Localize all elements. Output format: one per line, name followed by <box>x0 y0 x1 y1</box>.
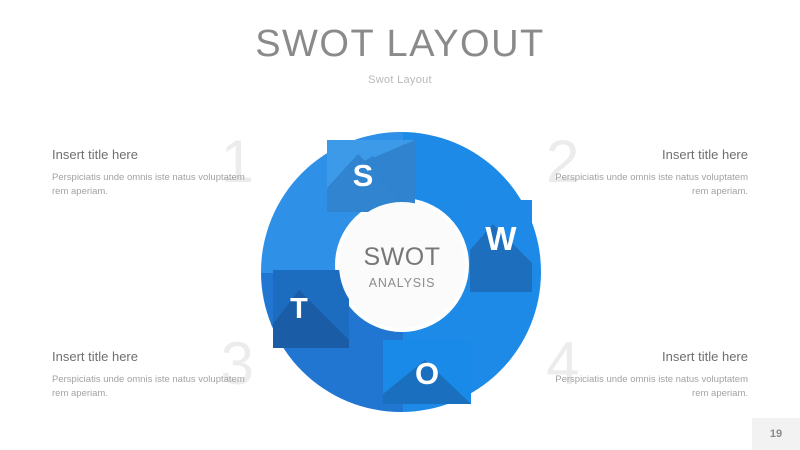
swot-center: SWOT ANALYSIS <box>339 202 465 328</box>
square-w-letter: W <box>485 220 517 257</box>
center-title: SWOT <box>364 243 441 271</box>
page-title: SWOT LAYOUT <box>0 22 800 66</box>
swot-item-2[interactable]: 2 Insert title here Perspiciatis unde om… <box>538 146 748 199</box>
swot-item-3[interactable]: 3 Insert title here Perspiciatis unde om… <box>52 348 262 401</box>
slide-header: SWOT LAYOUT Swot Layout <box>0 22 800 86</box>
item-1-title: Insert title here <box>52 146 262 164</box>
center-subtitle: ANALYSIS <box>369 276 436 290</box>
slide-canvas: SWOT LAYOUT Swot Layout 1 Insert title h… <box>0 0 800 450</box>
square-t-letter: T <box>290 293 308 325</box>
swot-square-weaknesses[interactable]: W <box>470 200 532 292</box>
page-number-box: 19 <box>752 418 800 450</box>
swot-square-opportunities[interactable]: O <box>383 340 471 404</box>
swot-item-4[interactable]: 4 Insert title here Perspiciatis unde om… <box>538 348 748 401</box>
item-1-description: Perspiciatis unde omnis iste natus volup… <box>52 171 262 199</box>
square-o-letter: O <box>415 356 439 391</box>
item-4-title: Insert title here <box>538 348 748 366</box>
item-3-description: Perspiciatis unde omnis iste natus volup… <box>52 373 262 401</box>
page-number: 19 <box>770 428 782 440</box>
page-subtitle: Swot Layout <box>0 74 800 86</box>
swot-square-threats[interactable]: T <box>273 270 349 348</box>
item-4-description: Perspiciatis unde omnis iste natus volup… <box>538 373 748 401</box>
item-3-title: Insert title here <box>52 348 262 366</box>
item-2-description: Perspiciatis unde omnis iste natus volup… <box>538 171 748 199</box>
swot-item-1[interactable]: 1 Insert title here Perspiciatis unde om… <box>52 146 262 199</box>
item-2-title: Insert title here <box>538 146 748 164</box>
swot-diagram: S W T <box>255 132 550 414</box>
square-s-letter: S <box>353 158 374 193</box>
